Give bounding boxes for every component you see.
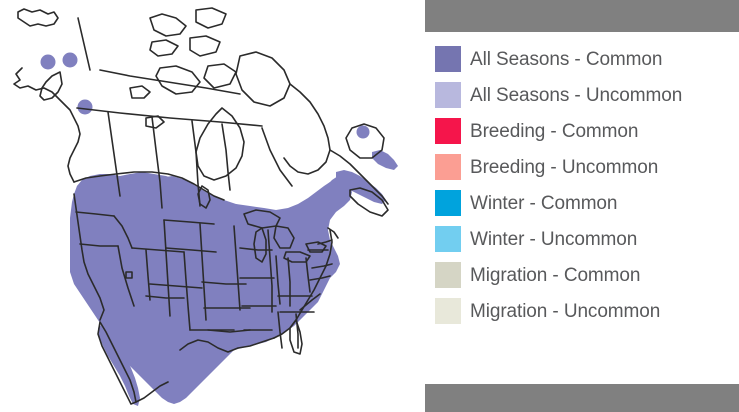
small-island-1	[130, 86, 150, 98]
north-america-map[interactable]	[0, 0, 425, 412]
legend-item-breeding-common[interactable]: Breeding - Common	[425, 114, 739, 150]
arctic-island-3	[150, 40, 178, 56]
legend-item-winter-uncommon[interactable]: Winter - Uncommon	[425, 222, 739, 258]
labrador-coast	[284, 84, 330, 174]
legend-item-migration-uncommon[interactable]: Migration - Uncommon	[425, 294, 739, 330]
swatch-migration-uncommon	[435, 298, 461, 324]
arctic-island-5	[156, 66, 200, 94]
alaska-interior-point	[41, 55, 56, 70]
alaska-mainland-outline	[14, 68, 80, 182]
canada-usa-border	[77, 108, 262, 126]
legend-label-all-seasons-uncommon: All Seasons - Uncommon	[470, 78, 682, 114]
isolated-range-points-layer	[41, 53, 370, 139]
legend-item-migration-common[interactable]: Migration - Common	[425, 258, 739, 294]
swatch-all-seasons-uncommon	[435, 82, 461, 108]
legend-label-breeding-common: Breeding - Common	[470, 114, 638, 150]
swatch-winter-uncommon	[435, 226, 461, 252]
arctic-island-4	[190, 36, 220, 56]
legend-label-winter-uncommon: Winter - Uncommon	[470, 222, 637, 258]
map-pane[interactable]	[0, 0, 425, 412]
legend-item-all-seasons-uncommon[interactable]: All Seasons - Uncommon	[425, 78, 739, 114]
arctic-island-2	[196, 8, 226, 28]
province-border-yukon-nwt	[78, 18, 90, 70]
legend-top-gray-bar	[425, 0, 739, 32]
alaska-outline	[18, 9, 58, 26]
legend-item-breeding-uncommon[interactable]: Breeding - Uncommon	[425, 150, 739, 186]
yukon-point	[63, 53, 78, 68]
legend-label-migration-uncommon: Migration - Uncommon	[470, 294, 660, 330]
alaska-panhandle	[40, 72, 62, 100]
arctic-island-1	[150, 14, 186, 36]
swatch-breeding-uncommon	[435, 154, 461, 180]
legend-item-all-seasons-common[interactable]: All Seasons - Common	[425, 42, 739, 78]
legend-bottom-gray-bar	[425, 384, 739, 412]
swatch-breeding-common	[435, 118, 461, 144]
swatch-all-seasons-common	[435, 46, 461, 72]
legend-pane: All Seasons - Common All Seasons - Uncom…	[425, 0, 739, 412]
southeast-alaska-point	[78, 100, 93, 115]
province-border-mb-on	[222, 124, 230, 190]
province-border-qc-on	[262, 128, 292, 186]
legend-label-winter-common: Winter - Common	[470, 186, 617, 222]
legend-label-breeding-uncommon: Breeding - Uncommon	[470, 150, 658, 186]
state-border-new-england	[328, 228, 338, 238]
legend-label-all-seasons-common: All Seasons - Common	[470, 42, 662, 78]
legend-items-list: All Seasons - Common All Seasons - Uncom…	[425, 32, 739, 384]
range-map-figure: All Seasons - Common All Seasons - Uncom…	[0, 0, 739, 412]
legend-item-winter-common[interactable]: Winter - Common	[425, 186, 739, 222]
hudson-bay	[196, 108, 244, 180]
swatch-migration-common	[435, 262, 461, 288]
range-polygon-newfoundland	[372, 150, 398, 170]
arctic-island-6	[204, 64, 236, 88]
baffin-island	[236, 52, 290, 106]
newfoundland-point	[357, 126, 370, 139]
legend-label-migration-common: Migration - Common	[470, 258, 640, 294]
swatch-winter-common	[435, 190, 461, 216]
florida-outline	[290, 320, 302, 354]
